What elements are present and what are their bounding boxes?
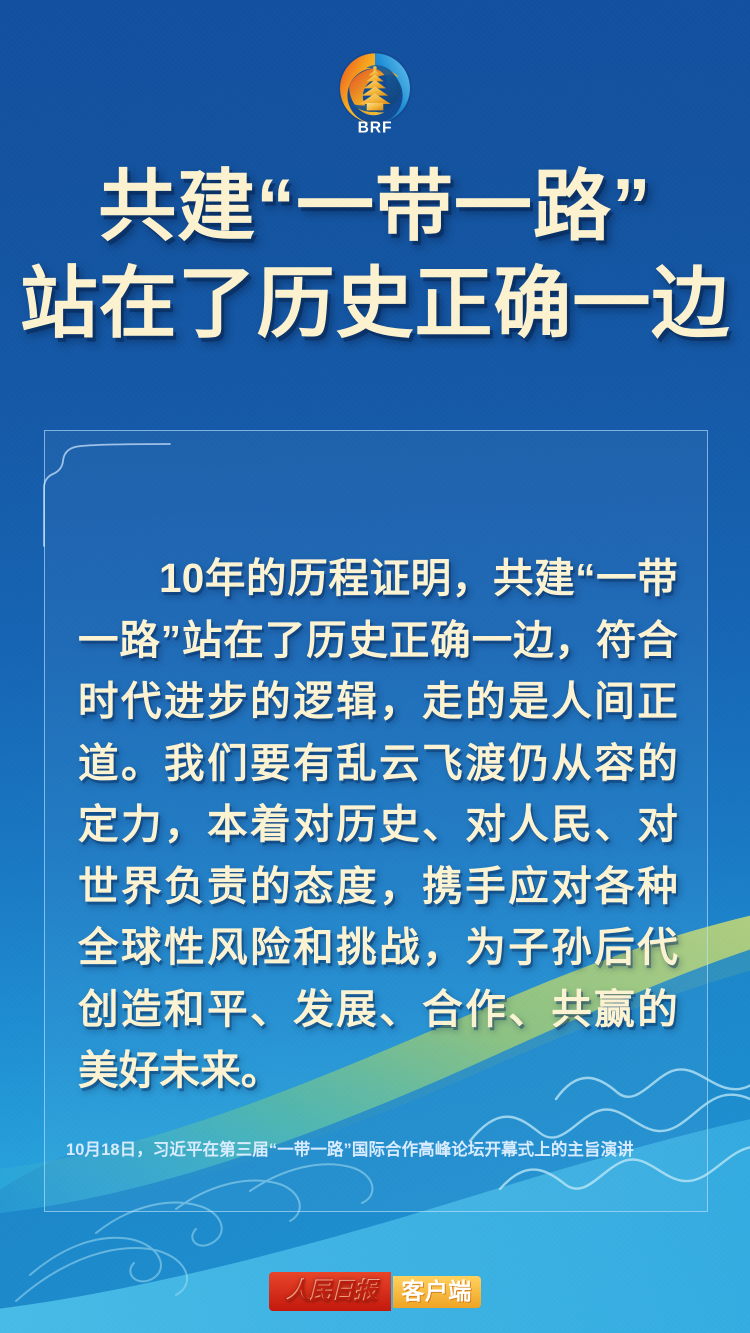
brand-primary-badge: 人民日报 xyxy=(269,1272,391,1311)
emblem-container: BRF xyxy=(0,46,750,138)
peoples-daily-app-logo: 人民日报 客户端 xyxy=(269,1272,481,1311)
quote-source-caption: 10月18日，习近平在第三届“一带一路”国际合作高峰论坛开幕式上的主旨演讲 xyxy=(66,1136,690,1160)
brf-emblem-icon: BRF xyxy=(329,46,421,138)
brand-primary-label: 人民日报 xyxy=(278,1276,383,1306)
poster-root: BRF 共建“一带一路” 站在了历史正确一边 10年的历程证明，共建“一带一路”… xyxy=(0,0,750,1333)
quote-card: 10年的历程证明，共建“一带一路”站在了历史正确一边，符合时代进步的逻辑，走的是… xyxy=(44,430,708,1212)
quote-text-block: 10年的历程证明，共建“一带一路”站在了历史正确一边，符合时代进步的逻辑，走的是… xyxy=(78,548,678,1102)
brand-secondary-badge: 客户端 xyxy=(393,1276,480,1308)
headline-line-1: 共建“一带一路” xyxy=(0,162,750,251)
brand-secondary-label: 客户端 xyxy=(401,1280,471,1303)
headline-line-2: 站在了历史正确一边 xyxy=(0,259,750,348)
footer-brand: 人民日报 客户端 xyxy=(0,1272,750,1311)
svg-text:BRF: BRF xyxy=(358,119,393,136)
page-title: 共建“一带一路” 站在了历史正确一边 xyxy=(0,162,750,348)
quote-paragraph: 10年的历程证明，共建“一带一路”站在了历史正确一边，符合时代进步的逻辑，走的是… xyxy=(78,548,678,1102)
card-notched-corner-decoration xyxy=(42,428,172,548)
